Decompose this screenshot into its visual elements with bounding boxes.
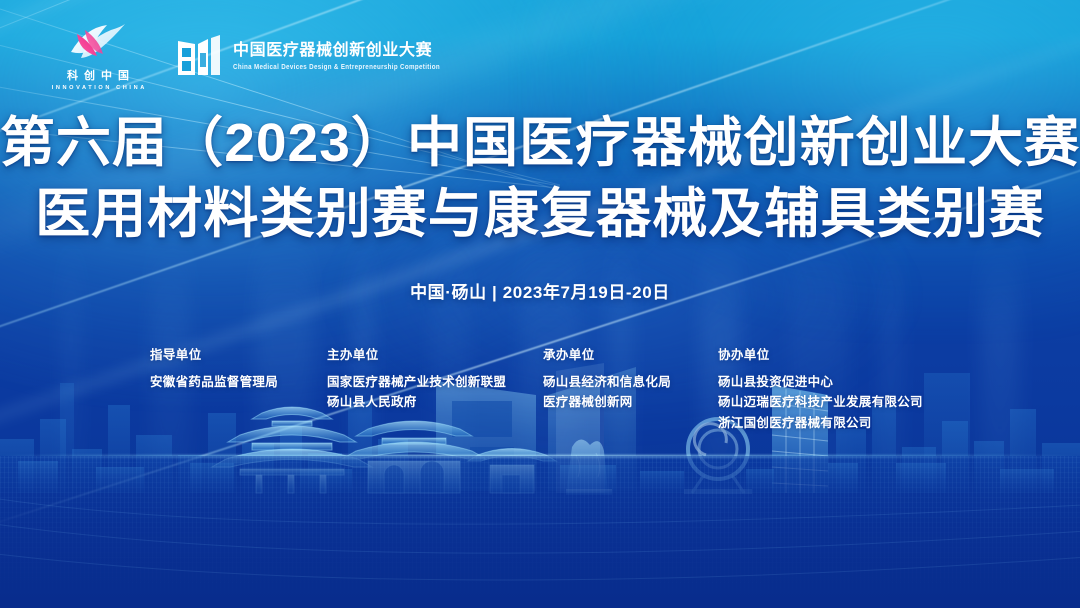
organizer-unit: 国家医疗器械产业技术创新联盟 [327, 372, 506, 392]
kechuang-logo-en: INNOVATION CHINA [49, 85, 147, 91]
organizer-role-label: 协办单位 [718, 344, 923, 363]
organizer-unit: 砀山县人民政府 [327, 392, 506, 412]
organizer-unit: 安徽省药品监督管理局 [150, 372, 278, 392]
organizer-column-3: 协办单位砀山县投资促进中心砀山迈瑞医疗科技产业发展有限公司浙江国创医疗器械有限公… [718, 344, 923, 433]
event-location-date: 中国·砀山 | 2023年7月19日-20日 [0, 278, 1080, 303]
organizer-role-label: 承办单位 [543, 344, 671, 363]
organizer-columns: 指导单位安徽省药品监督管理局主办单位国家医疗器械产业技术创新联盟砀山县人民政府承… [0, 344, 1080, 434]
competition-logo-cn: 中国医疗器械创新创业大赛 [233, 43, 440, 60]
title-line-1: 第六届（2023）中国医疗器械创新创业大赛 [0, 108, 1080, 179]
competition-logo-en: China Medical Devices Design & Entrepren… [233, 63, 440, 71]
kechuang-logo-cn: 科创中国 [61, 67, 135, 83]
organizer-role-label: 指导单位 [150, 344, 278, 363]
organizer-column-2: 承办单位砀山县经济和信息化局医疗器械创新网 [543, 344, 671, 413]
organizer-role-label: 主办单位 [327, 344, 506, 363]
organizer-unit: 浙江国创医疗器械有限公司 [718, 413, 923, 433]
organizer-unit: 砀山县经济和信息化局 [543, 372, 671, 392]
kechuang-bird-icon [67, 22, 129, 62]
competition-logo: 中国医疗器械创新创业大赛 China Medical Devices Desig… [176, 35, 440, 79]
organizer-unit: 医疗器械创新网 [543, 392, 671, 412]
organizer-column-1: 主办单位国家医疗器械产业技术创新联盟砀山县人民政府 [327, 344, 506, 413]
kechuang-zhongguo-logo: 科创中国 INNOVATION CHINA [46, 22, 150, 91]
poster-title: 第六届（2023）中国医疗器械创新创业大赛 医用材料类别赛与康复器械及辅具类别赛 [0, 108, 1080, 251]
event-poster: 科创中国 INNOVATION CHINA 中国医疗器械创新创业大赛 China… [0, 0, 1080, 608]
organizer-column-0: 指导单位安徽省药品监督管理局 [150, 344, 278, 392]
title-line-2: 医用材料类别赛与康复器械及辅具类别赛 [0, 179, 1080, 250]
organizer-unit: 砀山县投资促进中心 [718, 372, 923, 392]
header-logos: 科创中国 INNOVATION CHINA 中国医疗器械创新创业大赛 China… [46, 22, 440, 91]
open-door-icon [176, 35, 222, 79]
competition-logo-text: 中国医疗器械创新创业大赛 China Medical Devices Desig… [233, 43, 440, 70]
organizer-unit: 砀山迈瑞医疗科技产业发展有限公司 [718, 392, 923, 412]
water-arc-lines [0, 456, 1080, 608]
